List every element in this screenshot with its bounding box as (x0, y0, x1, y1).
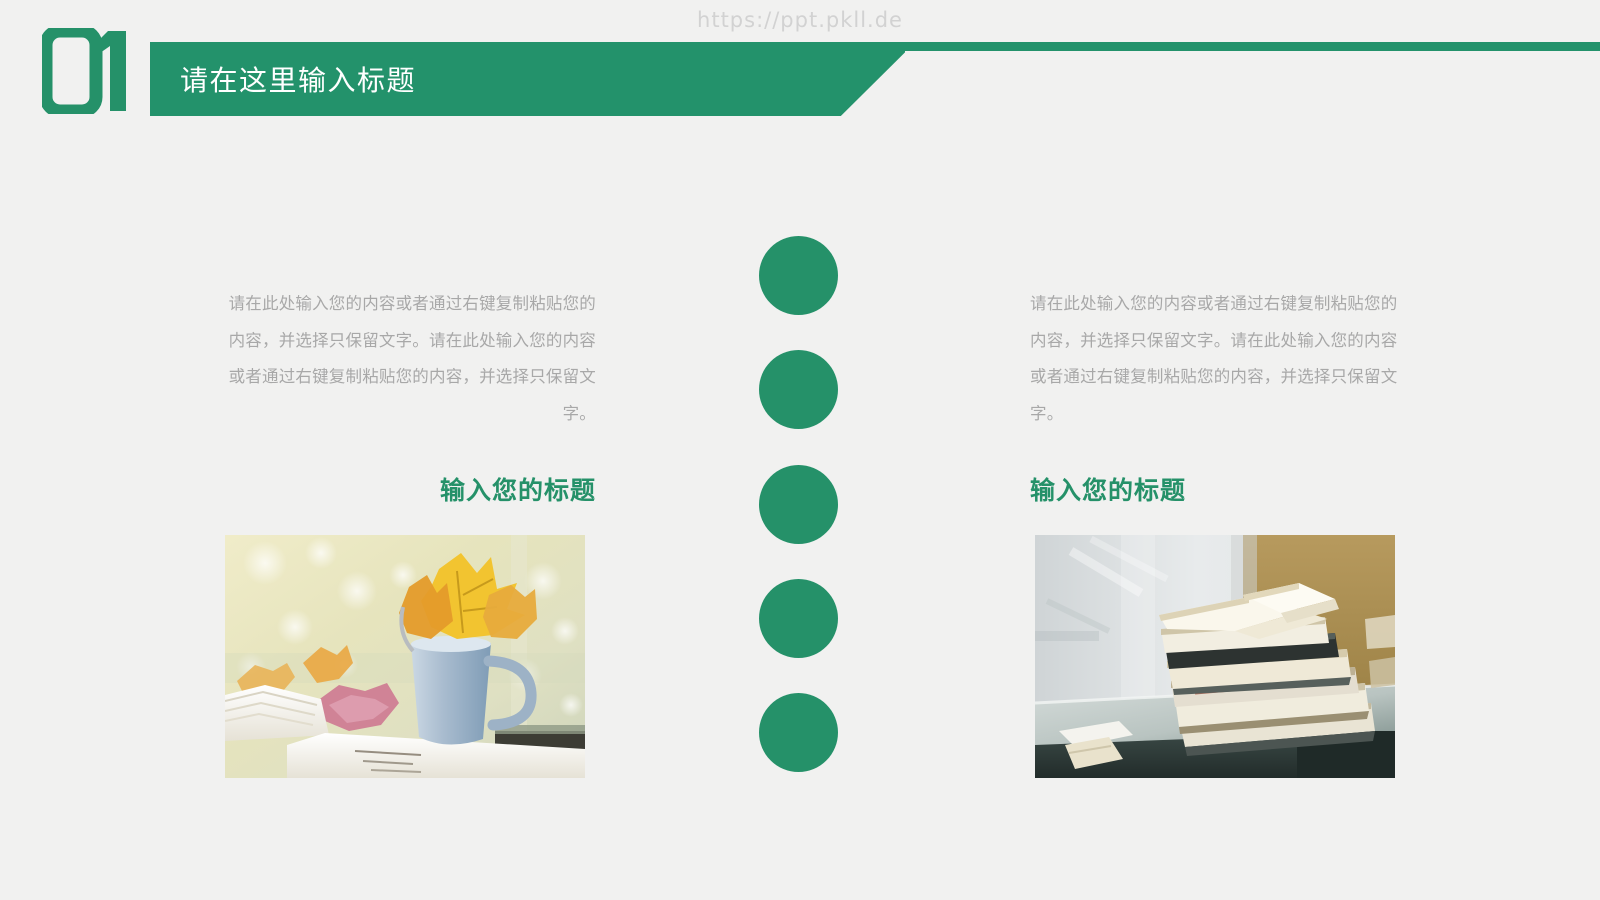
page-title: 请在这里输入标题 (180, 42, 416, 116)
column-right-paragraph: 请在此处输入您的内容或者通过右键复制粘贴您的内容，并选择只保留文字。请在此处输入… (1030, 286, 1398, 432)
image-left-graphic (225, 535, 585, 778)
center-dot-5[interactable] (759, 693, 838, 772)
center-dot-3[interactable] (759, 465, 838, 544)
image-right-graphic (1035, 535, 1395, 778)
column-left-paragraph: 请在此处输入您的内容或者通过右键复制粘贴您的内容，并选择只保留文字。请在此处输入… (228, 286, 596, 432)
center-dot-column (759, 236, 839, 772)
watermark-url: https://ppt.pkll.de (0, 8, 1600, 32)
section-number-icon (42, 28, 142, 114)
column-left: 请在此处输入您的内容或者通过右键复制粘贴您的内容，并选择只保留文字。请在此处输入… (228, 286, 596, 504)
image-left (225, 535, 585, 778)
section-number-badge (42, 28, 142, 114)
column-left-subtitle: 输入您的标题 (228, 479, 596, 504)
column-right: 请在此处输入您的内容或者通过右键复制粘贴您的内容，并选择只保留文字。请在此处输入… (1030, 286, 1398, 504)
center-dot-1[interactable] (759, 236, 838, 315)
center-dot-2[interactable] (759, 350, 838, 429)
center-dot-4[interactable] (759, 579, 838, 658)
image-right (1035, 535, 1395, 778)
slide-canvas: https://ppt.pkll.de 请在这里输入标题 请在此处输入您的内容或… (0, 0, 1600, 900)
column-right-subtitle: 输入您的标题 (1030, 479, 1398, 504)
